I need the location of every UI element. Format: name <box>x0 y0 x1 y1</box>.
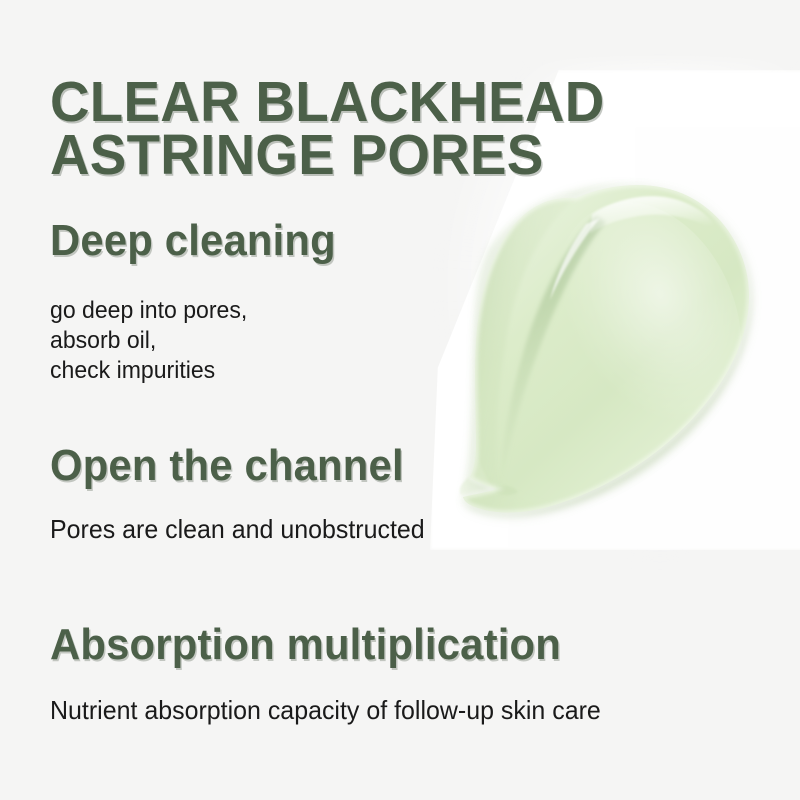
page-title-line-1: CLEAR BLACKHEAD <box>50 76 722 129</box>
feature-body: go deep into pores, absorb oil, check im… <box>50 296 741 386</box>
feature-block-open-the-channel: Open the channel Pores are clean and uno… <box>50 443 770 545</box>
feature-heading: Absorption multiplication <box>50 622 734 668</box>
feature-body-line: Nutrient absorption capacity of follow-u… <box>50 694 741 726</box>
feature-body-line: go deep into pores, <box>50 296 741 326</box>
feature-heading: Open the channel <box>50 443 734 489</box>
page-title-line-2: ASTRINGE PORES <box>50 129 722 182</box>
feature-body-line: absorb oil, <box>50 326 741 356</box>
feature-body-line: Pores are clean and unobstructed <box>50 513 741 545</box>
feature-block-deep-cleaning: Deep cleaning go deep into pores, absorb… <box>50 218 770 386</box>
feature-heading: Deep cleaning <box>50 218 734 264</box>
feature-body-line: check impurities <box>50 356 741 386</box>
page-title: CLEAR BLACKHEAD ASTRINGE PORES <box>50 76 722 182</box>
feature-body: Pores are clean and unobstructed <box>50 513 741 545</box>
product-benefit-poster: CLEAR BLACKHEAD ASTRINGE PORES Deep clea… <box>0 0 800 800</box>
feature-body: Nutrient absorption capacity of follow-u… <box>50 694 741 726</box>
feature-block-absorption-multiplication: Absorption multiplication Nutrient absor… <box>50 622 770 726</box>
